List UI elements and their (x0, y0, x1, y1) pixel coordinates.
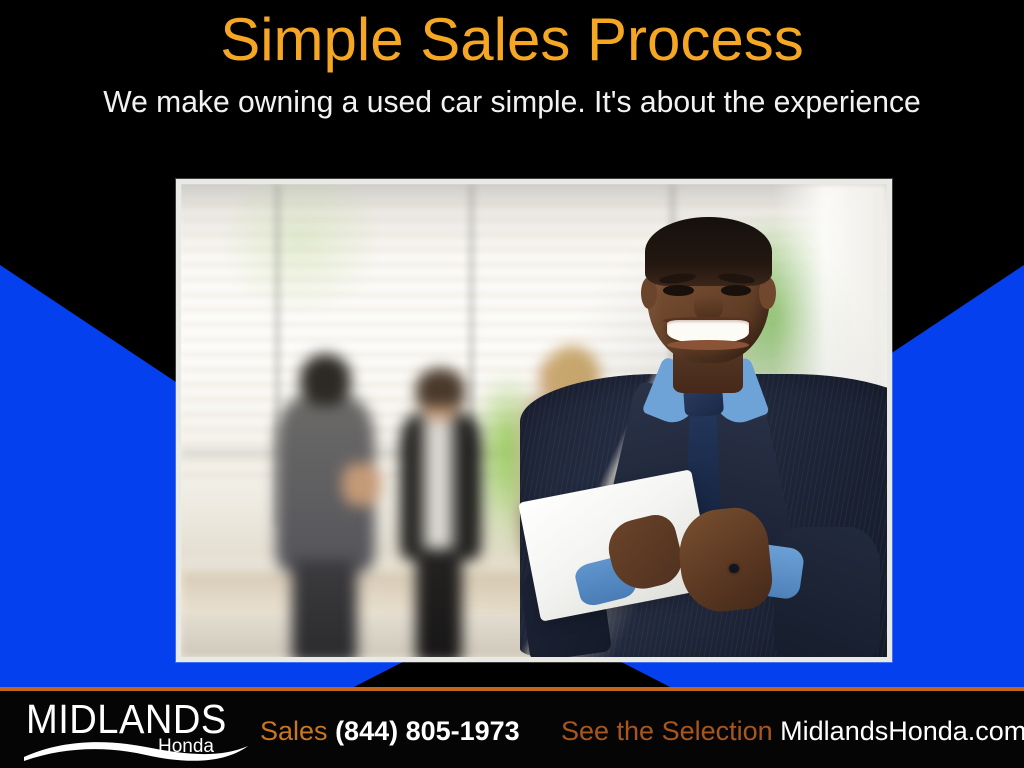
dealer-logo[interactable]: MIDLANDS Honda (22, 697, 252, 763)
sales-phone-number: (844) 805-1973 (335, 716, 520, 746)
sales-label: Sales (260, 716, 328, 746)
logo-brand-text: MIDLANDS (26, 697, 227, 741)
website-url: MidlandsHonda.com (780, 716, 1024, 746)
page-subtitle: We make owning a used car simple. It's a… (15, 84, 1008, 120)
website-link[interactable]: See the Selection MidlandsHonda.com (561, 715, 1024, 747)
advertisement-banner: Simple Sales Process We make owning a us… (0, 0, 1024, 768)
footer-bar: MIDLANDS Honda Sales (844) 805-1973 See … (0, 691, 1024, 768)
foreground-businessman (520, 193, 887, 657)
sales-phone[interactable]: Sales (844) 805-1973 (260, 715, 520, 747)
see-the-selection-label: See the Selection (561, 716, 773, 746)
hero-photo-frame (176, 179, 892, 662)
hero-photo (181, 184, 887, 657)
background-person-man (276, 354, 375, 657)
logo-swoosh-icon (22, 737, 252, 763)
page-title: Simple Sales Process (0, 8, 1024, 72)
background-person-woman (396, 373, 484, 657)
